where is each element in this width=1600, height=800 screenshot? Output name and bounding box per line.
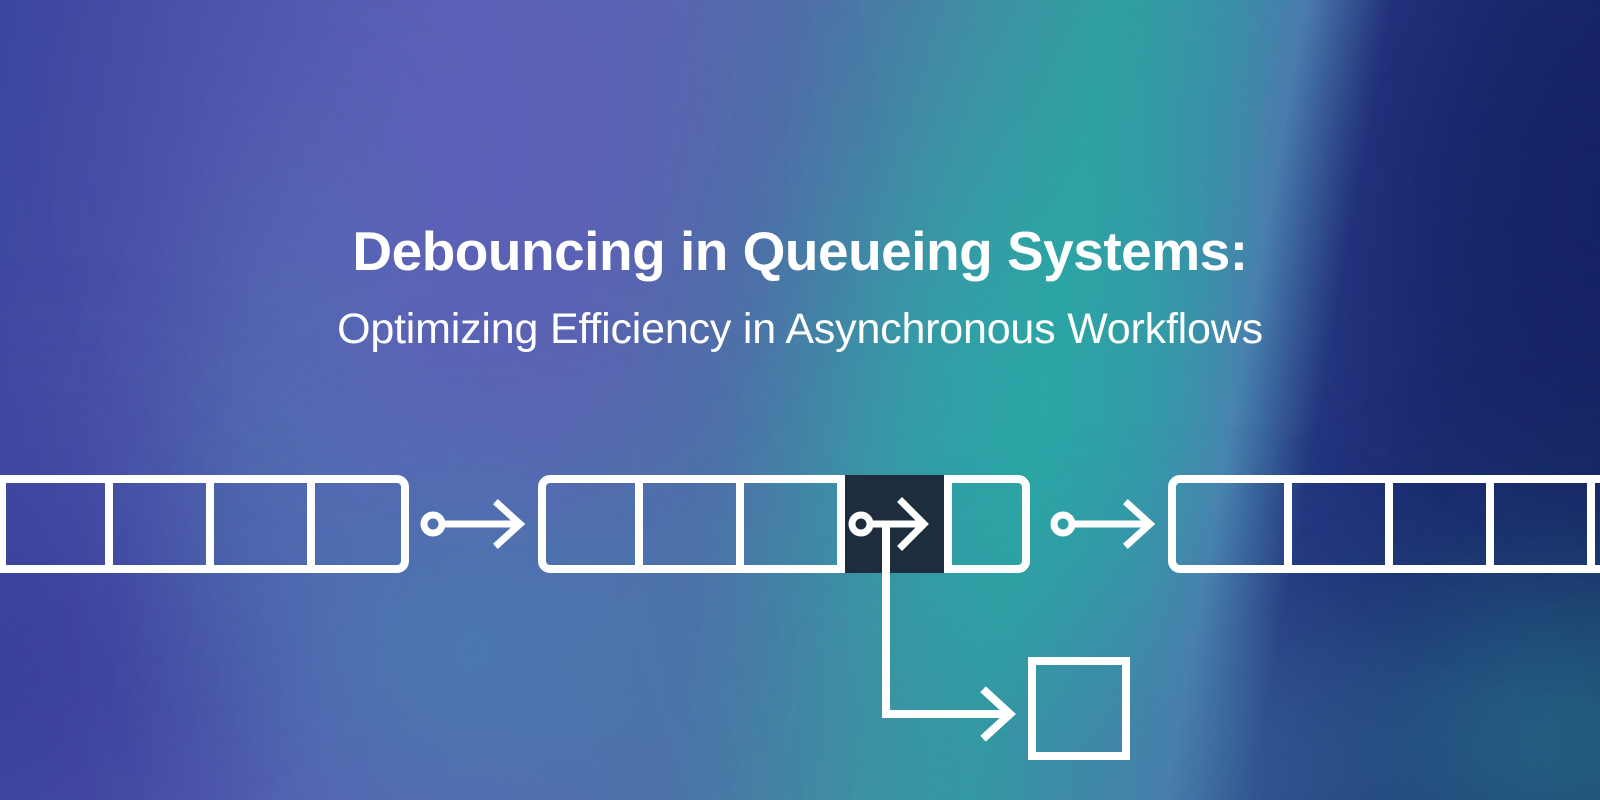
connector-middle-to-right xyxy=(1054,504,1150,544)
queue-middle xyxy=(542,475,1026,573)
hero-banner: Debouncing in Queueing Systems: Optimizi… xyxy=(0,0,1600,800)
queue-left-outline xyxy=(0,479,405,569)
queue-left xyxy=(0,479,405,569)
queue-diagram-svg xyxy=(0,0,1600,800)
queue-diagram xyxy=(0,0,1600,800)
overflow-box xyxy=(1032,661,1126,756)
connector2-source-dot-icon xyxy=(1054,515,1072,533)
connector-source-dot-icon xyxy=(424,515,442,533)
queue-middle-outline xyxy=(542,479,1026,569)
queue-right xyxy=(1172,479,1600,569)
connector-left-to-middle xyxy=(424,504,520,544)
